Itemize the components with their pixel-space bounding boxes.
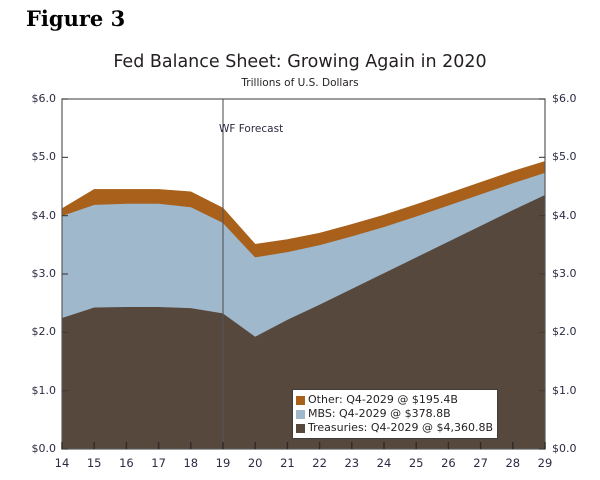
legend-item-treasuries: Treasuries: Q4-2029 @ $4,360.8B [296,421,493,435]
x-axis-label-4: 18 [175,456,207,470]
x-axis-label-13: 27 [465,456,497,470]
x-axis-label-7: 21 [271,456,303,470]
legend-swatch-other [296,396,305,405]
y-axis-label-left-2: $2.0 [6,325,56,338]
y-axis-label-right-5: $5.0 [552,150,600,163]
y-axis-label-right-6: $6.0 [552,92,600,105]
x-axis-label-1: 15 [78,456,110,470]
y-axis-label-left-5: $5.0 [6,150,56,163]
x-axis-label-3: 17 [143,456,175,470]
legend-item-other: Other: Q4-2029 @ $195.4B [296,393,493,407]
y-axis-label-right-0: $0.0 [552,442,600,455]
x-axis-label-11: 25 [400,456,432,470]
legend-swatch-treasuries [296,424,305,433]
x-axis-label-14: 28 [497,456,529,470]
y-axis-label-right-1: $1.0 [552,384,600,397]
x-axis-label-5: 19 [207,456,239,470]
figure-page: Figure 3 Fed Balance Sheet: Growing Agai… [0,0,600,480]
y-axis-label-right-2: $2.0 [552,325,600,338]
x-axis-label-8: 22 [304,456,336,470]
legend-item-mbs: MBS: Q4-2029 @ $378.8B [296,407,493,421]
y-axis-label-right-3: $3.0 [552,267,600,280]
y-axis-label-right-4: $4.0 [552,209,600,222]
y-axis-label-left-0: $0.0 [6,442,56,455]
x-axis-label-2: 16 [110,456,142,470]
x-axis-label-12: 26 [432,456,464,470]
y-axis-label-left-1: $1.0 [6,384,56,397]
legend-label-treasuries: Treasuries: Q4-2029 @ $4,360.8B [308,422,493,434]
chart-legend: Other: Q4-2029 @ $195.4B MBS: Q4-2029 @ … [292,389,498,439]
x-axis-label-9: 23 [336,456,368,470]
legend-swatch-mbs [296,410,305,419]
x-axis-label-6: 20 [239,456,271,470]
y-axis-label-left-3: $3.0 [6,267,56,280]
forecast-annotation-label: WF Forecast [219,123,283,135]
legend-label-mbs: MBS: Q4-2029 @ $378.8B [308,408,451,420]
x-axis-label-15: 29 [529,456,561,470]
legend-label-other: Other: Q4-2029 @ $195.4B [308,394,458,406]
x-axis-label-10: 24 [368,456,400,470]
y-axis-label-left-6: $6.0 [6,92,56,105]
y-axis-label-left-4: $4.0 [6,209,56,222]
x-axis-label-0: 14 [46,456,78,470]
